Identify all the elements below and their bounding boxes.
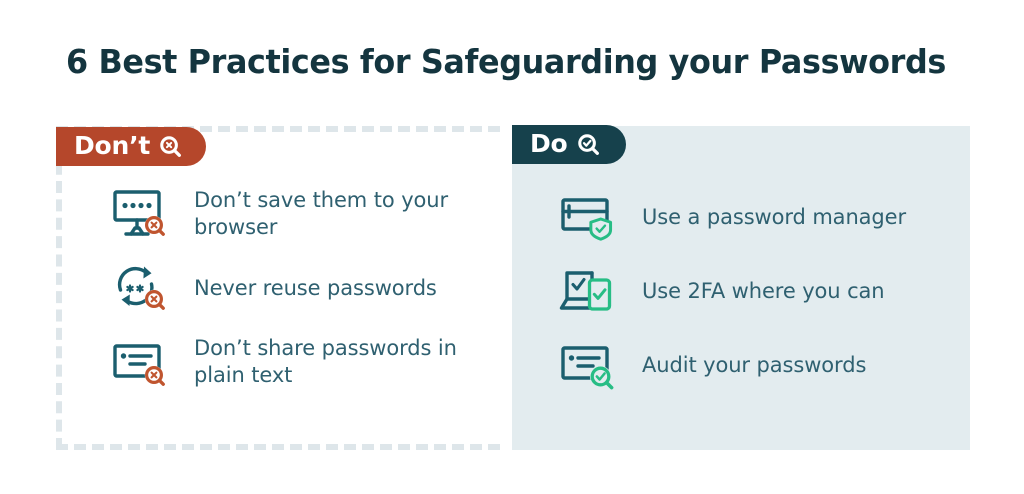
list-item-label: Use a password manager [642,204,906,231]
list-item: Never reuse passwords [110,257,490,319]
shield-check-icon [590,219,611,241]
list-item: Don’t share passwords in plain text [110,331,490,393]
magnifier-x-icon [145,216,163,234]
magnifier-x-icon [145,290,163,308]
list-item: Use a password manager [558,186,958,248]
recycle-arrows-asterisks-icon [110,258,176,318]
card-password-icon [558,187,624,247]
do-badge: Do [512,125,626,164]
list-item-label: Use 2FA where you can [642,278,885,305]
magnifier-x-icon [145,366,163,384]
list-item-label: Never reuse passwords [194,275,437,302]
list-item: Use 2FA where you can [558,260,958,322]
list-item-label: Audit your passwords [642,352,866,379]
do-badge-label: Do [530,131,568,159]
list-item-label: Don’t save them to your browser [194,187,490,241]
list-item-label: Don’t share passwords in plain text [194,335,490,389]
page-title: 6 Best Practices for Safeguarding your P… [66,42,946,81]
list-item: Don’t save them to your browser [110,183,490,245]
magnifier-check-icon [577,133,600,156]
dont-item-list: Don’t save them to your browser [110,183,490,405]
monitor-password-dots-icon [110,184,176,244]
list-item: Audit your passwords [558,334,958,396]
card-text-lines-icon [110,332,176,392]
infographic-canvas: 6 Best Practices for Safeguarding your P… [0,0,1024,494]
magnifier-x-icon [159,135,182,158]
do-item-list: Use a password manager [558,186,958,408]
dont-badge-label: Don’t [74,133,150,161]
phone-check-icon [590,280,610,309]
dont-badge: Don’t [56,127,206,166]
card-text-lines-icon [558,335,624,395]
laptop-phone-check-icon [558,261,624,321]
